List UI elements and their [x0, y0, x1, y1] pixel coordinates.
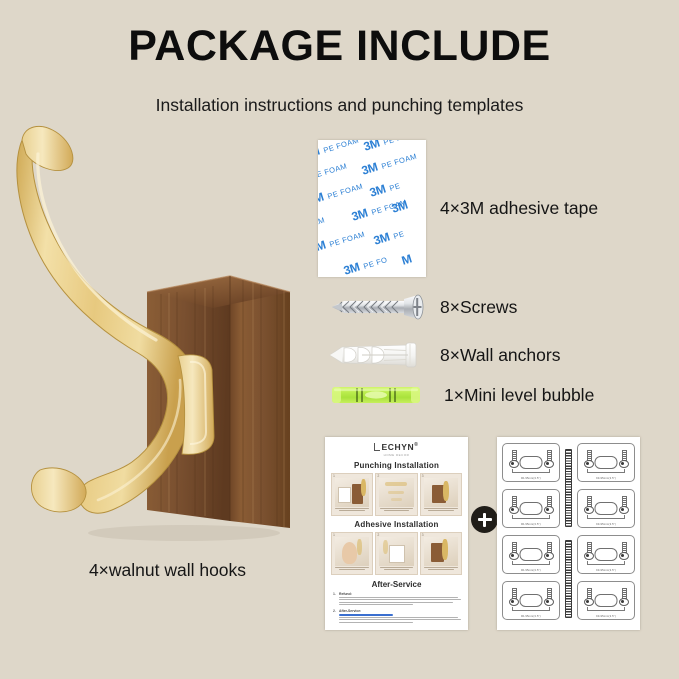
template-column-left: 90-95mm(3.5") 90-95mm(3.5") 90-95mm(3.5"…: [502, 443, 560, 624]
punching-template-page: 90-95mm(3.5") 90-95mm(3.5") 90-95mm(3.5"…: [497, 437, 640, 630]
adhesive-tape-label: 4×3M adhesive tape: [440, 198, 598, 218]
screw-mark-icon: [508, 542, 519, 561]
screw-mark-icon: [618, 588, 629, 607]
screw-mark-icon: [508, 450, 519, 469]
center-oval-outline: [519, 594, 542, 607]
center-oval-outline: [595, 548, 618, 561]
brand-trademark: ®: [414, 442, 418, 448]
dimension-label: 90-95mm(3.5"): [503, 523, 559, 526]
step-card: 1: [331, 473, 373, 516]
hook-caption: 4×walnut wall hooks: [0, 560, 335, 581]
3m-pe-foam-tape-sheet: 3M PE FOAM 3M PE FO M PE FOAM 3M PE FOAM…: [318, 140, 426, 277]
part-row-wall-anchors: 8×Wall anchors: [322, 340, 560, 370]
screw-icon: [322, 292, 426, 322]
text-line: [339, 619, 461, 620]
part-row-level-bubble: 1×Mini level bubble: [330, 384, 594, 406]
screw-mark-icon: [543, 450, 554, 469]
screw-mark-icon: [618, 496, 629, 515]
screw-mark-icon: [583, 496, 594, 515]
brand-tagline: HOME DECOR: [331, 453, 462, 457]
template-card: 90-95mm(3.5"): [577, 581, 635, 620]
dimension-label: 90-95mm(3.5"): [578, 523, 634, 526]
dimension-line: [587, 515, 625, 519]
text-line: [339, 604, 413, 605]
section-heading-punching: Punching Installation: [331, 461, 462, 470]
text-line: [339, 602, 453, 603]
center-oval-outline: [519, 548, 542, 561]
dimension-label: 90-95mm(3.5"): [578, 477, 634, 480]
page-title: PACKAGE INCLUDE: [0, 22, 679, 71]
screw-mark-icon: [543, 542, 554, 561]
page-subtitle: Installation instructions and punching t…: [0, 95, 679, 116]
template-card: 90-95mm(3.5"): [502, 489, 560, 528]
template-column-right: 90-95mm(3.5") 90-95mm(3.5") 90-95mm(3.5"…: [577, 443, 635, 624]
template-card: 90-95mm(3.5"): [577, 535, 635, 574]
step-card: 1: [331, 532, 373, 575]
text-line: [339, 622, 413, 623]
ruler-strip-column: [560, 443, 577, 624]
item-title: Refund:: [339, 592, 462, 596]
after-service-item: 1. Refund:: [333, 592, 462, 606]
screws-label: 8×Screws: [440, 297, 517, 318]
dimension-label: 90-95mm(3.5"): [578, 569, 634, 572]
tape-pattern-text: PE FOAM: [322, 140, 360, 155]
wall-anchors-label: 8×Wall anchors: [440, 345, 560, 366]
part-row-adhesive-tape: 3M PE FOAM 3M PE FO M PE FOAM 3M PE FOAM…: [318, 140, 598, 277]
screw-mark-icon: [618, 450, 629, 469]
item-title: After-Service:: [339, 609, 462, 613]
dimension-line: [512, 561, 550, 565]
step-card: 3: [420, 473, 462, 516]
ruler-strip: [565, 449, 572, 527]
wall-anchor-icon: [322, 340, 426, 370]
screw-mark-icon: [508, 588, 519, 607]
walnut-wall-hook-photo: [14, 118, 320, 543]
center-oval-outline: [595, 594, 618, 607]
plus-icon: [471, 506, 498, 533]
instruction-sheet-page: ECHYN® HOME DECOR Punching Installation …: [325, 437, 468, 630]
dimension-label: 90-95mm(3.5"): [578, 615, 634, 618]
step-photo: [379, 537, 413, 566]
mini-level-bubble-icon: [330, 384, 422, 406]
step-photo: [424, 478, 458, 507]
screw-mark-icon: [543, 588, 554, 607]
brand-logo: ECHYN®: [331, 442, 462, 452]
template-card: 90-95mm(3.5"): [577, 443, 635, 482]
support-email-link[interactable]: [339, 614, 393, 616]
screw-mark-icon: [583, 450, 594, 469]
center-oval-outline: [595, 456, 618, 469]
step-photo: [424, 537, 458, 566]
text-line: [339, 599, 461, 600]
dimension-line: [587, 561, 625, 565]
screw-mark-icon: [618, 542, 629, 561]
dimension-label: 90-95mm(3.5"): [503, 477, 559, 480]
screw-mark-icon: [583, 588, 594, 607]
step-photo: [335, 478, 369, 507]
level-bubble-label: 1×Mini level bubble: [444, 385, 594, 406]
screw-mark-icon: [583, 542, 594, 561]
center-oval-outline: [595, 502, 618, 515]
template-card: 90-95mm(3.5"): [577, 489, 635, 528]
ruler-strip: [565, 540, 572, 618]
step-photo: [379, 478, 413, 507]
center-oval-outline: [519, 456, 542, 469]
brand-name: ECHYN: [381, 442, 414, 452]
dimension-line: [512, 607, 550, 611]
part-row-screws: 8×Screws: [322, 292, 517, 322]
step-photo: [335, 537, 369, 566]
after-service-heading: After-Service: [331, 580, 462, 589]
dimension-label: 90-95mm(3.5"): [503, 615, 559, 618]
dimension-line: [512, 515, 550, 519]
logo-mark-icon: [374, 443, 380, 451]
dimension-line: [587, 607, 625, 611]
text-line: [339, 617, 458, 618]
screw-mark-icon: [543, 496, 554, 515]
section-heading-adhesive: Adhesive Installation: [331, 520, 462, 529]
dimension-line: [512, 469, 550, 473]
text-line: [339, 597, 458, 598]
step-card: 2: [375, 473, 417, 516]
screw-mark-icon: [508, 496, 519, 515]
tape-brand-text: 3M: [318, 144, 321, 162]
step-grid-adhesive: 1 2 3: [331, 532, 462, 575]
step-card: 3: [420, 532, 462, 575]
dimension-line: [587, 469, 625, 473]
template-card: 90-95mm(3.5"): [502, 443, 560, 482]
step-grid-punching: 1 2 3: [331, 473, 462, 516]
step-card: 2: [375, 532, 417, 575]
after-service-item: 2. After-Service:: [333, 609, 462, 624]
dimension-label: 90-95mm(3.5"): [503, 569, 559, 572]
template-card: 90-95mm(3.5"): [502, 535, 560, 574]
template-card: 90-95mm(3.5"): [502, 581, 560, 620]
center-oval-outline: [519, 502, 542, 515]
